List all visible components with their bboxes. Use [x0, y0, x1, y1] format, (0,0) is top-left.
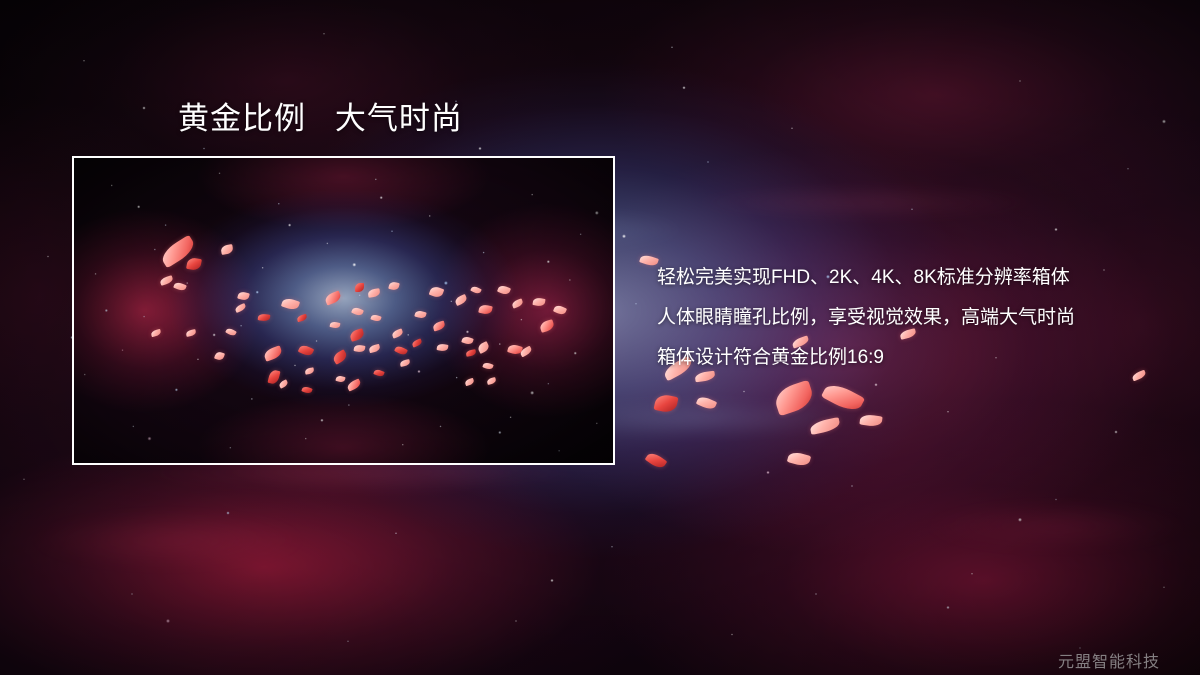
body-line-3: 箱体设计符合黄金比例16:9 — [657, 338, 1177, 378]
page-title: 黄金比例 大气时尚 — [178, 102, 463, 136]
petal — [653, 393, 678, 414]
petal — [821, 380, 865, 416]
petal — [787, 450, 811, 468]
body-line-2: 人体眼睛瞳孔比例，享受视觉效果，高端大气时尚 — [657, 298, 1177, 338]
watermark-label: 元盟智能科技 — [1058, 648, 1160, 672]
preview-image — [74, 158, 613, 463]
petal — [696, 395, 717, 412]
petal — [645, 450, 668, 470]
petal — [809, 417, 841, 435]
body-line-1: 轻松完美实现FHD、2K、4K、8K标准分辨率箱体 — [657, 258, 1177, 298]
petal — [639, 253, 659, 267]
body-copy: 轻松完美实现FHD、2K、4K、8K标准分辨率箱体 人体眼睛瞳孔比例，享受视觉效… — [657, 258, 1177, 378]
petal — [859, 414, 882, 428]
preview-image-frame — [72, 156, 615, 465]
petal — [772, 380, 816, 416]
slide-canvas: 黄金比例 大气时尚 轻松完美实现FHD、2K、4K、8K标准分辨率箱体 人体眼睛… — [0, 0, 1200, 675]
preview-vignette — [74, 158, 613, 463]
